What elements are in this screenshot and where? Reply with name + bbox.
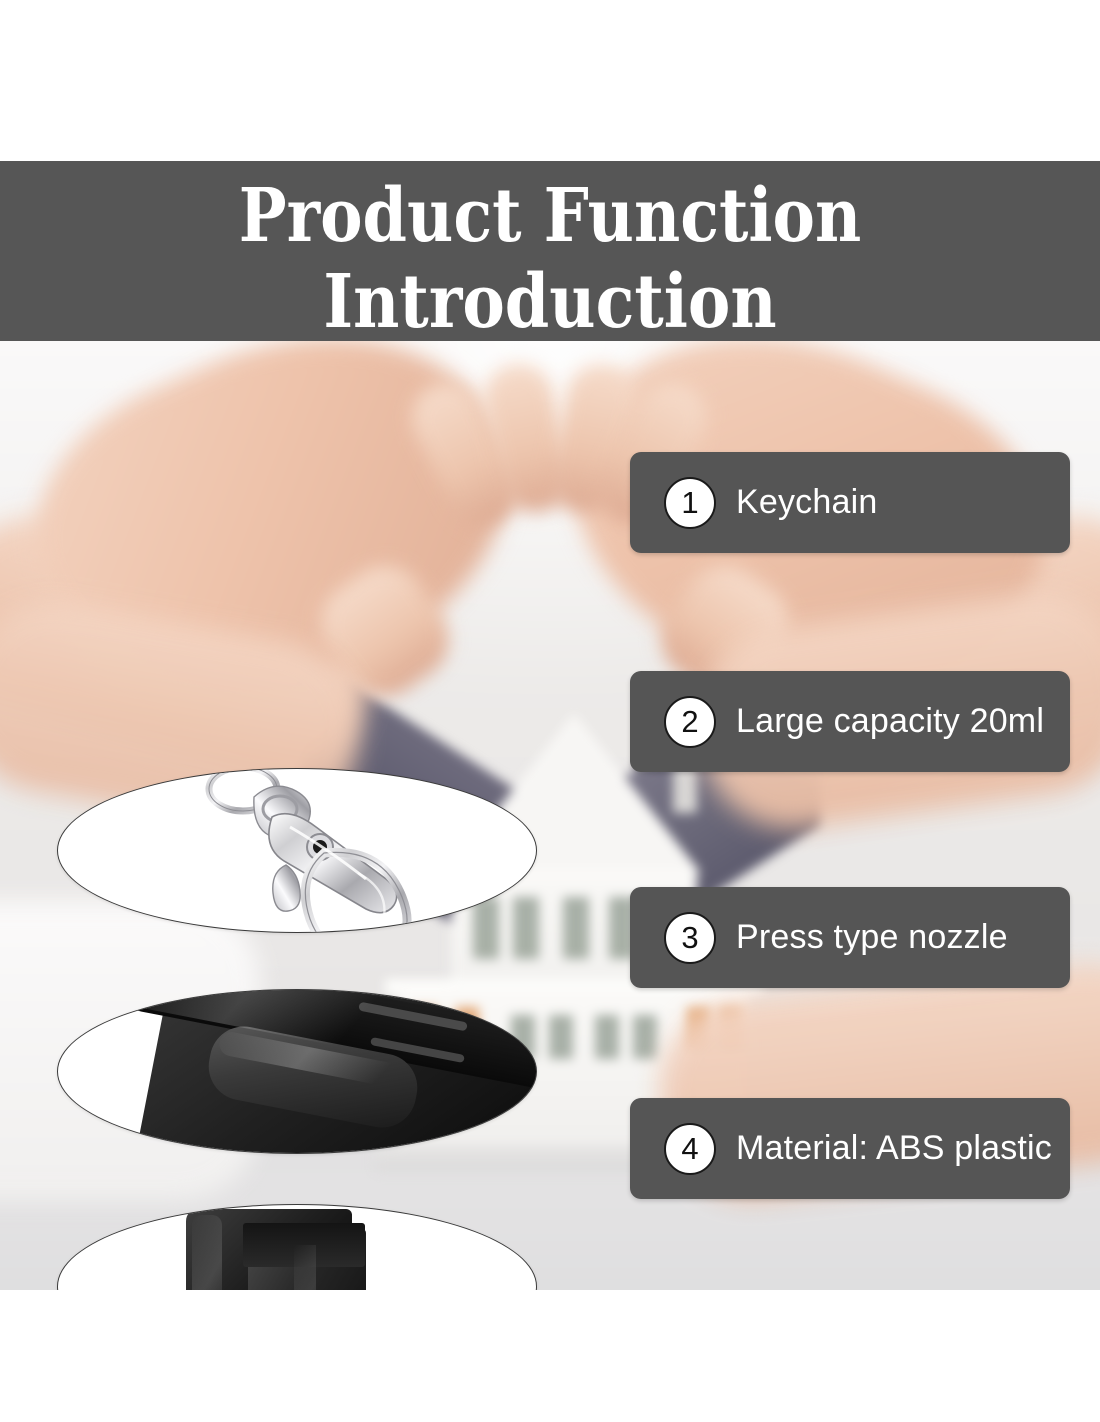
page-title-line-1: Product Function: [77, 173, 1023, 259]
callout-number-badge-1: 1: [664, 477, 716, 529]
callout-label-4[interactable]: 4 Material: ABS plastic: [630, 1098, 1070, 1199]
nozzle-highlight-mid: [294, 1245, 316, 1290]
callout-number-badge-3: 3: [664, 912, 716, 964]
page-title-line-2: Introduction: [77, 259, 1023, 341]
callout-label-text-2: Large capacity 20ml: [736, 702, 1044, 741]
callout-label-text-3: Press type nozzle: [736, 918, 1008, 957]
callout-number-badge-2: 2: [664, 696, 716, 748]
page-title: Product Function Introduction: [77, 161, 1023, 341]
callout-label-text-1: Keychain: [736, 483, 877, 522]
callout-label-3[interactable]: 3 Press type nozzle: [630, 887, 1070, 988]
product-infographic-page: Product Function Introduction: [0, 0, 1100, 1422]
callout-label-text-4: Material: ABS plastic: [736, 1129, 1052, 1168]
top-white-margin: [0, 0, 1100, 161]
callout-number-badge-4: 4: [664, 1123, 716, 1175]
header-band: Product Function Introduction: [0, 161, 1100, 341]
callout-label-1[interactable]: 1 Keychain: [630, 452, 1070, 553]
keychain-clasp-icon: [58, 769, 536, 932]
product-photo-stage: 1 Keychain 2 Large capacity 20ml 3 Press…: [0, 341, 1100, 1290]
callout-label-2[interactable]: 2 Large capacity 20ml: [630, 671, 1070, 772]
nozzle-highlight-left: [192, 1215, 222, 1290]
callout-image-1: [57, 768, 537, 933]
bottom-white-margin: [0, 1290, 1100, 1422]
callout-image-2: [57, 989, 537, 1154]
